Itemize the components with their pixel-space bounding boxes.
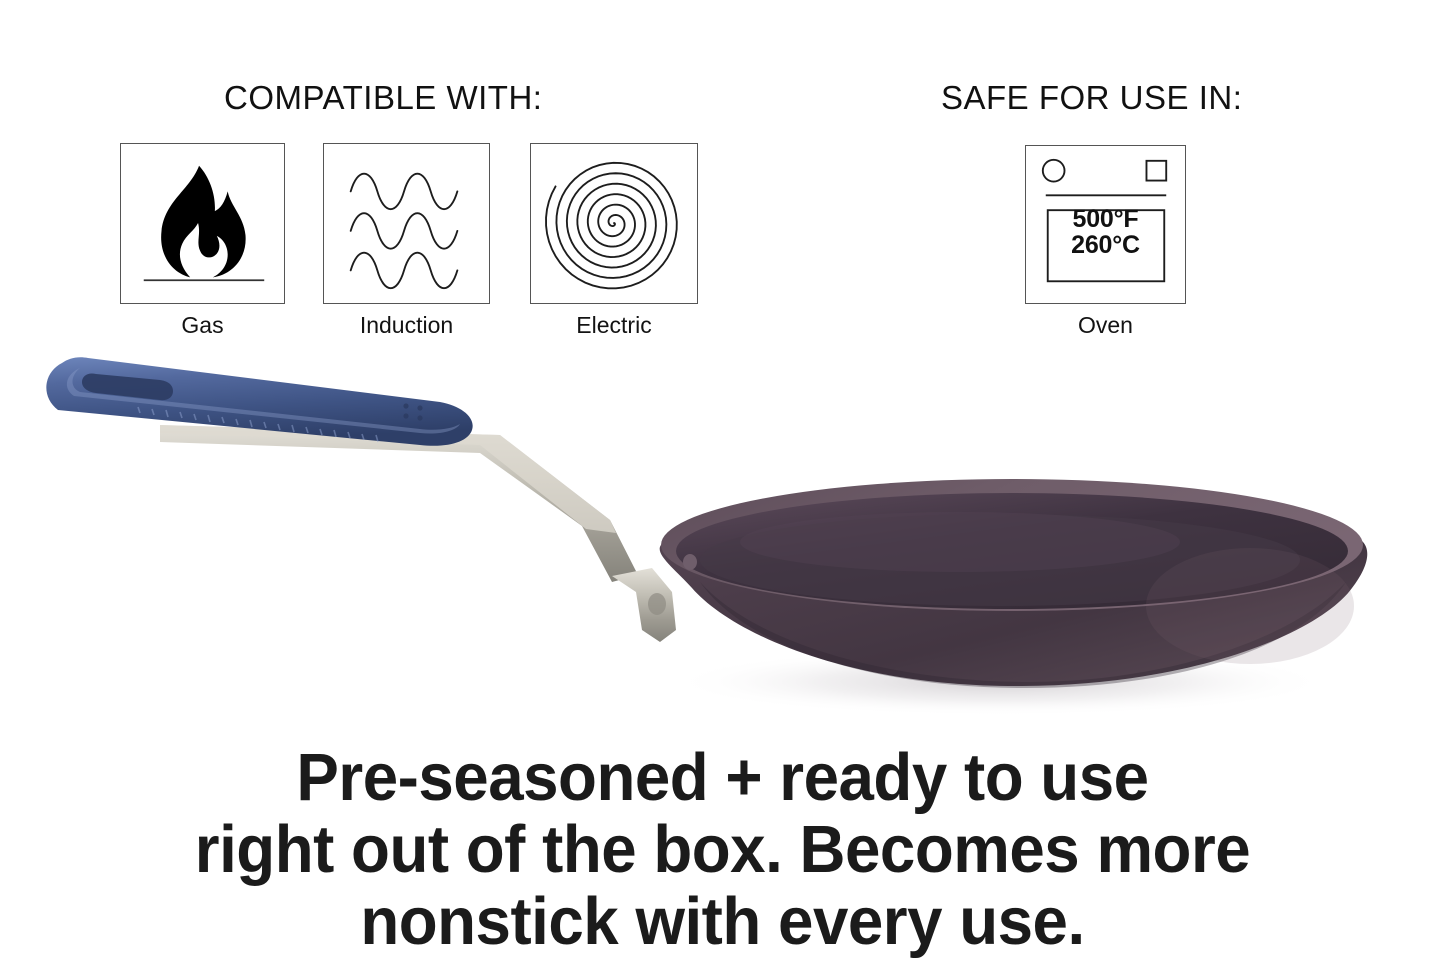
headline-text: Pre-seasoned + ready to use right out of… xyxy=(36,742,1409,958)
electric-icon-box xyxy=(530,143,698,304)
induction-icon-box xyxy=(323,143,490,304)
oven-icon-box: 500°F 260°C xyxy=(1025,145,1186,304)
headline-line-2: right out of the box. Becomes more xyxy=(36,814,1409,886)
oven-window xyxy=(1048,210,1165,281)
oven-icon xyxy=(1026,146,1185,303)
pan-rivet xyxy=(683,554,697,570)
headline-line-1: Pre-seasoned + ready to use xyxy=(36,742,1409,814)
oven-timer-icon xyxy=(1146,161,1166,181)
pan-body xyxy=(660,479,1368,688)
gas-icon-box xyxy=(120,143,285,304)
compatible-with-heading: COMPATIBLE WITH: xyxy=(224,79,542,117)
pan-handle-bracket xyxy=(612,568,676,642)
oven-knob-icon xyxy=(1043,160,1065,182)
safe-for-use-heading: SAFE FOR USE IN: xyxy=(941,79,1242,117)
flame-icon xyxy=(121,144,284,303)
headline-line-3: nonstick with every use. xyxy=(36,886,1409,958)
electric-spiral-icon xyxy=(531,144,697,303)
pan-steel-shank xyxy=(160,425,676,642)
frying-pan-image xyxy=(0,330,1445,730)
induction-waves-icon xyxy=(324,144,489,303)
